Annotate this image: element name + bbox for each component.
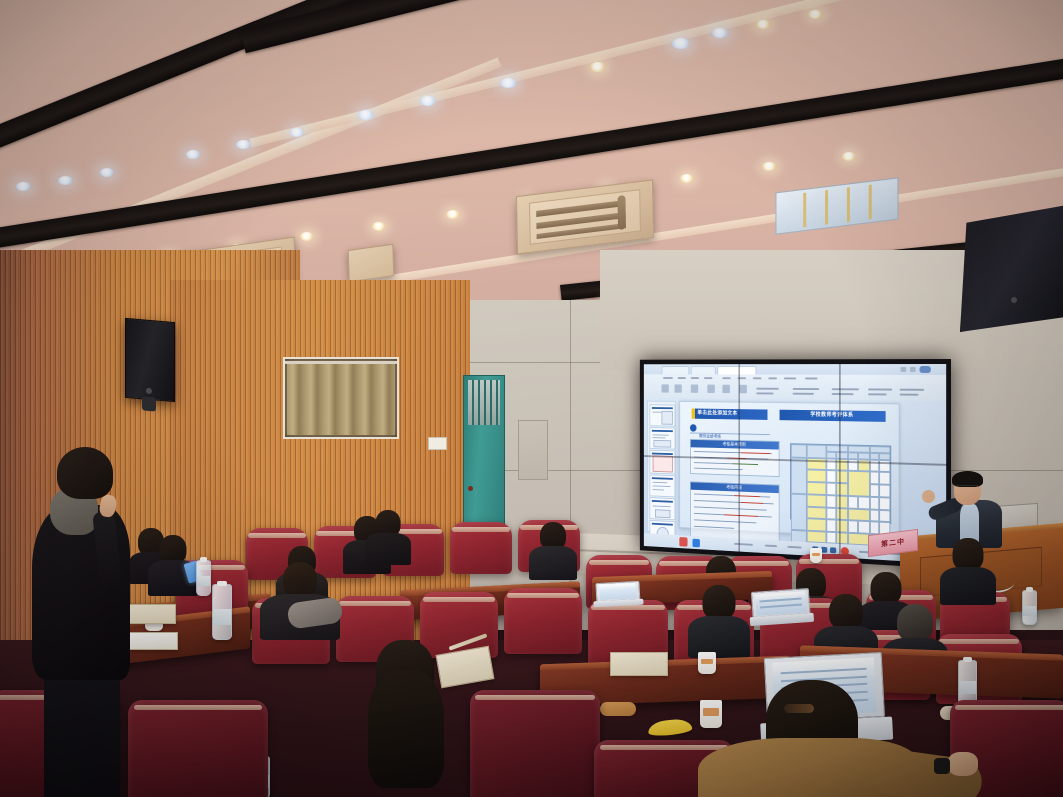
app-icon[interactable] <box>692 539 699 548</box>
ceiling-spotlight <box>842 152 856 161</box>
name-placard-text: 第二中 <box>881 537 905 550</box>
auditorium-seat <box>470 690 600 797</box>
notebook <box>610 652 668 676</box>
ceiling-access-panel <box>348 244 395 283</box>
wall-speaker-right <box>960 205 1063 332</box>
presenter-hand <box>922 490 935 503</box>
box-heading: 考核内容 <box>691 482 779 493</box>
ribbon-toolbar[interactable] <box>644 374 946 401</box>
ceiling-spotlight <box>372 222 386 231</box>
hair-clip <box>784 704 814 713</box>
slide-thumbnail[interactable] <box>649 427 675 450</box>
attendee-hair <box>368 670 444 788</box>
ceiling-spotlight <box>236 140 251 149</box>
slide-title-left-text: 单击此处添加文本 <box>692 409 738 420</box>
ceiling-spotlight <box>680 174 694 183</box>
ceiling-spotlight <box>590 62 606 72</box>
slide-thumbnail-panel[interactable] <box>647 401 676 534</box>
attendee <box>942 538 994 598</box>
ceiling-spotlight <box>16 182 31 191</box>
ceiling-spotlight <box>358 110 374 120</box>
water-bottle <box>196 560 211 596</box>
wps-logo-icon <box>679 537 687 547</box>
attendee-with-laptop-foreground <box>722 680 972 797</box>
ceiling-spotlight <box>58 176 73 185</box>
auditorium-seat <box>450 522 512 574</box>
standing-participant <box>24 447 142 797</box>
water-bottle <box>1022 590 1037 625</box>
slide-title-right-text: 学校教师考评体系 <box>780 410 886 422</box>
slide-thumbnail[interactable] <box>649 497 675 520</box>
slide-thumbnail[interactable] <box>649 474 675 497</box>
auditorium-seat <box>504 588 582 654</box>
curtain <box>287 364 395 435</box>
auditorium-seat <box>128 700 268 797</box>
app-titlebar <box>644 364 946 375</box>
paper-cup <box>810 548 822 563</box>
ribbon-button-icon[interactable] <box>674 384 681 392</box>
window-with-curtain <box>283 357 399 439</box>
door-knob[interactable] <box>468 486 473 491</box>
wall-switch-plate[interactable] <box>428 437 447 450</box>
ceiling-spotlight <box>672 38 690 49</box>
ceiling-channel-2 <box>240 0 925 53</box>
paper-cup <box>698 652 716 674</box>
slide-evaluation-table <box>790 443 891 524</box>
slide-subtitle: 教师业绩考核 <box>699 425 736 431</box>
ceiling-spotlight <box>100 168 114 177</box>
speaker-mount <box>142 396 156 411</box>
attendee <box>690 585 748 651</box>
presenter <box>928 472 1014 548</box>
slide-title-left: 单击此处添加文本 <box>692 409 768 420</box>
slide-thumbnail[interactable] <box>649 450 675 475</box>
ceiling-spotlight <box>186 150 200 159</box>
attendee <box>366 510 410 560</box>
laptop[interactable] <box>595 581 640 607</box>
attendee <box>530 522 576 574</box>
wrist-watch <box>934 758 950 774</box>
window-control-icon[interactable] <box>901 367 907 372</box>
ceiling-spotlight <box>446 210 460 219</box>
ceiling-spotlight <box>762 162 777 171</box>
view-mode-icon[interactable] <box>830 547 836 553</box>
ribbon-button-icon[interactable] <box>691 385 698 393</box>
account-avatar-icon[interactable] <box>919 366 930 373</box>
title-accent-bar <box>692 409 695 419</box>
slide-thumbnail[interactable] <box>649 404 675 426</box>
slide-title-right: 学校教师考评体系 <box>780 410 886 422</box>
wall-access-panel <box>518 420 548 480</box>
slide-logo-icon <box>690 424 697 432</box>
conference-hall-photo: 单击此处添加文本 学校教师考评体系 教师业绩考核 考核基本原则 <box>0 0 1063 797</box>
presenter-glasses <box>956 485 979 491</box>
ceiling-spotlight <box>420 96 436 106</box>
door-glass-panel <box>468 380 500 425</box>
ceiling-vent <box>775 177 898 234</box>
ceiling-spotlight <box>500 78 517 88</box>
ceiling-spotlight <box>300 232 314 241</box>
laptop[interactable] <box>751 588 811 626</box>
ribbon-button-icon[interactable] <box>722 385 730 393</box>
window-control-icon[interactable] <box>910 367 916 372</box>
ceiling-spotlight <box>290 128 304 137</box>
slide-content-box: 考核内容 <box>690 481 780 541</box>
slide-canvas[interactable]: 单击此处添加文本 学校教师考评体系 教师业绩考核 考核基本原则 <box>679 401 899 539</box>
ceiling-channel-1 <box>0 0 487 160</box>
woman-legs <box>44 667 120 797</box>
box-heading: 考核基本原则 <box>691 440 779 450</box>
ceiling-spotlight <box>756 20 771 29</box>
wall-speaker-left <box>125 318 175 402</box>
paper-cup <box>700 700 722 728</box>
ribbon-button-icon[interactable] <box>739 385 747 393</box>
ceiling-spotlight <box>808 10 823 19</box>
attendee-hand <box>948 752 978 776</box>
water-bottle <box>212 584 232 640</box>
ribbon-button-icon[interactable] <box>707 385 714 393</box>
ribbon-button-icon[interactable] <box>661 384 668 392</box>
woman-hair <box>57 447 113 499</box>
ceiling-spotlight <box>712 28 728 38</box>
snack-bread <box>600 702 636 716</box>
